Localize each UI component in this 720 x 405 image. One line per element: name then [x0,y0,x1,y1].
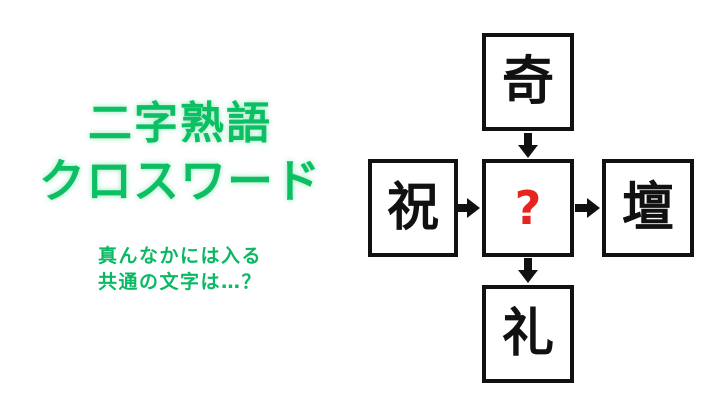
subtitle-block: 真んなかには入る 共通の文字は…？ [0,243,360,295]
crossword-diagram: 奇 祝 ? 壇 礼 [360,0,720,405]
arrow-down-icon-center-to-bottom [515,258,541,284]
arrow-right-icon-left-to-center [455,195,481,221]
arrow-right-icon-center-to-right [575,195,601,221]
kanji-cell-right: 壇 [602,159,694,257]
kanji-cell-bottom: 礼 [482,285,574,383]
subtitle-line-2: 共通の文字は…？ [0,269,360,295]
title-line-1: 二字熟語 [0,96,360,152]
arrow-down-icon-top-to-center [515,133,541,159]
kanji-character-left: 祝 [387,182,439,234]
kanji-cell-center-answer[interactable]: ? [482,159,574,257]
kanji-character-bottom: 礼 [502,308,554,360]
puzzle-slide: 二字熟語 クロスワード 真んなかには入る 共通の文字は…？ 奇 祝 ? 壇 礼 [0,0,720,405]
kanji-character-top: 奇 [502,56,554,108]
kanji-cell-left: 祝 [368,159,458,257]
kanji-cell-top: 奇 [482,33,574,131]
question-mark-character: ? [515,185,542,231]
kanji-character-right: 壇 [622,182,674,234]
subtitle-line-1: 真んなかには入る [0,243,360,269]
title-block: 二字熟語 クロスワード [0,96,360,211]
title-line-2: クロスワード [0,152,360,211]
